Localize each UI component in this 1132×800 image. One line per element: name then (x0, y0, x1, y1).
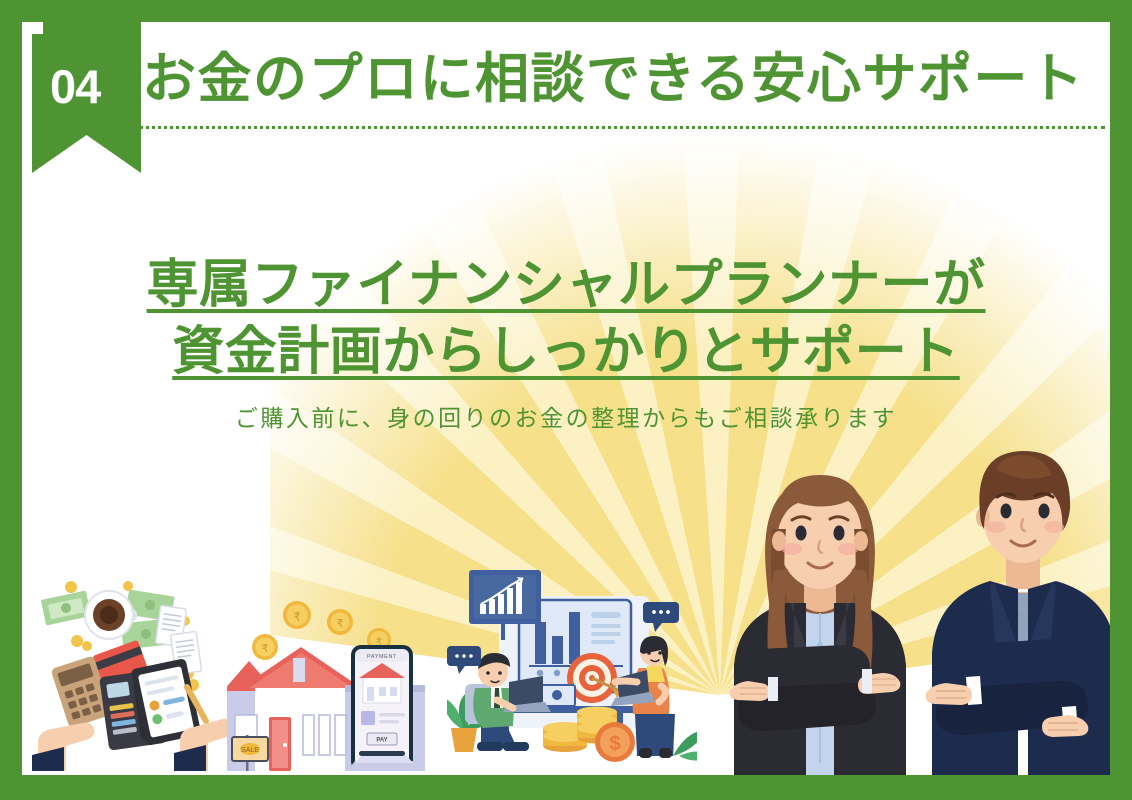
slide-canvas: 04 お金のプロに相談できる安心サポート 専属ファイナンシャルプランナーが 資金… (22, 22, 1110, 775)
coin-icon (71, 635, 83, 647)
banknote-icon (41, 591, 91, 626)
illustration-band: ₹ ₹ ₹ ₹ (22, 445, 1110, 775)
svg-text:$: $ (609, 733, 620, 755)
coin-icon: ₹ (327, 609, 353, 635)
coin-icon (65, 581, 77, 593)
phone-pay-button-label: PAY (376, 738, 387, 744)
dollar-coin-icon: $ (595, 722, 635, 762)
smartphone-icon: PAYMENT PAY (351, 645, 413, 771)
headline-line-2: 資金計画からしっかりとサポート (22, 319, 1110, 386)
hand-icon (32, 723, 94, 771)
svg-text:SALE: SALE (241, 747, 259, 754)
ribbon-notch (32, 22, 43, 34)
phone-payment-label: PAYMENT (367, 654, 397, 660)
illustration-house-payment: ₹ ₹ ₹ ₹ (227, 585, 442, 775)
illustration-finance-desk (30, 575, 245, 775)
slide-header: 04 お金のプロに相談できる安心サポート (22, 22, 1110, 142)
svg-text:₹: ₹ (293, 610, 301, 624)
headline-block: 専属ファイナンシャルプランナーが 資金計画からしっかりとサポート ご購入前に、身… (22, 252, 1110, 433)
page-title: お金のプロに相談できる安心サポート (142, 52, 1104, 106)
speech-bubble-icon (447, 646, 481, 674)
svg-text:₹: ₹ (337, 618, 344, 630)
coin-icon (123, 581, 133, 591)
headline-subtitle: ご購入前に、身の回りのお金の整理からもご相談承ります (22, 399, 1110, 433)
slide-root: 04 お金のプロに相談できる安心サポート 専属ファイナンシャルプランナーが 資金… (0, 0, 1132, 800)
illustration-team-charts: $ (447, 560, 697, 775)
coin-icon: ₹ (283, 601, 311, 629)
header-dotted-divider (55, 126, 1105, 129)
coin-icon (82, 641, 92, 651)
headline-line-1: 専属ファイナンシャルプランナーが (22, 252, 1110, 319)
coin-icon: ₹ (252, 634, 278, 660)
illustration-man-planner (922, 425, 1110, 775)
svg-text:₹: ₹ (262, 643, 269, 655)
section-number: 04 (50, 63, 150, 110)
illustration-woman-planner (712, 445, 927, 775)
